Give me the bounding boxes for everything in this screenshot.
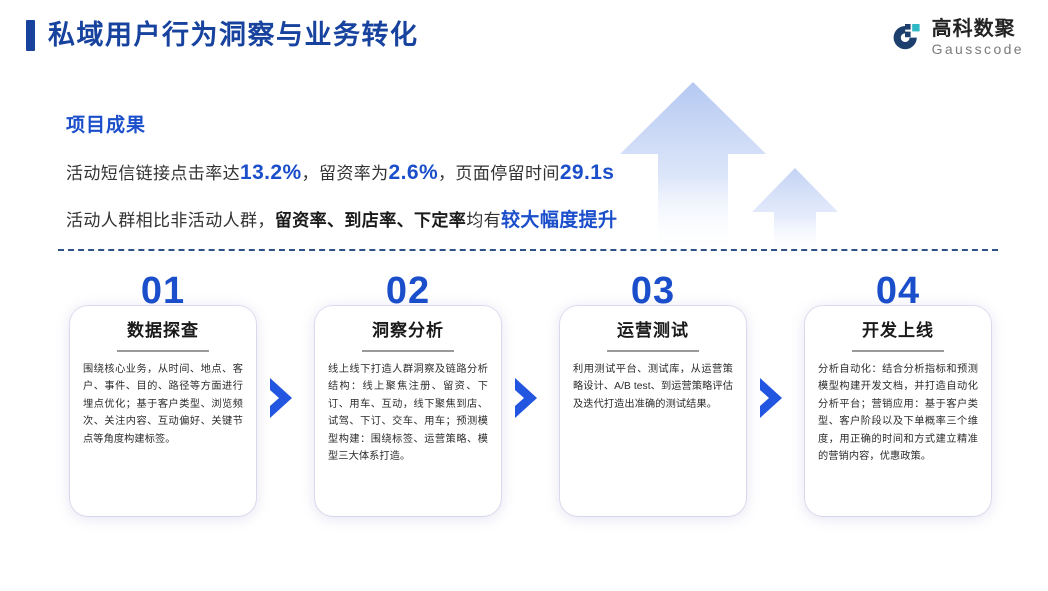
results-line-1: 活动短信链接点击率达13.2%，留资率为2.6%，页面停留时间29.1s — [66, 159, 617, 185]
logo-company-en: Gausscode — [932, 42, 1024, 56]
logo-company-cn: 高科数聚 — [932, 19, 1024, 39]
step-number-3: 03 — [560, 272, 746, 310]
step-rule-2 — [362, 350, 454, 352]
step-title-3: 运营测试 — [617, 322, 689, 341]
step-number-4: 04 — [805, 272, 991, 310]
results-line-2: 活动人群相比非活动人群，留资率、到店率、下定率均有较大幅度提升 — [66, 205, 617, 232]
results-line2-emphasis: 较大幅度提升 — [501, 210, 617, 231]
results-line1-seg1: 活动短信链接点击率达 — [66, 164, 240, 183]
title-accent-bar — [26, 20, 35, 51]
step-card-1[interactable]: 数据探查 围绕核心业务，从时间、地点、客户、事件、目的、路径等方面进行埋点优化；… — [70, 306, 256, 516]
decorative-up-arrow-large — [620, 82, 766, 254]
step-rule-3 — [607, 350, 699, 352]
slide-header: 私域用户行为洞察与业务转化 高科数聚 Gausscode — [0, 0, 1048, 78]
step-rule-1 — [117, 350, 209, 352]
results-heading: 项目成果 — [66, 110, 617, 137]
results-line2-seg1: 活动人群相比非活动人群， — [66, 211, 275, 230]
chevron-right-icon-3 — [758, 376, 784, 420]
chevron-right-icon-2 — [513, 376, 539, 420]
process-step-3: 03 运营测试 利用测试平台、测试库，从运营策略设计、A/B test、到运营策… — [560, 272, 746, 524]
step-body-3: 利用测试平台、测试库，从运营策略设计、A/B test、到运营策略评估及迭代打造… — [573, 361, 733, 414]
chevron-right-icon-1 — [268, 376, 294, 420]
step-title-4: 开发上线 — [862, 322, 934, 341]
step-body-1: 围绕核心业务，从时间、地点、客户、事件、目的、路径等方面进行埋点优化；基于客户类… — [83, 361, 243, 449]
stat-click-rate: 13.2% — [240, 161, 302, 184]
results-line2-metrics: 留资率、到店率、下定率 — [275, 211, 466, 230]
page-title: 私域用户行为洞察与业务转化 — [48, 22, 419, 49]
process-step-1: 01 数据探查 围绕核心业务，从时间、地点、客户、事件、目的、路径等方面进行埋点… — [70, 272, 256, 524]
process-step-2: 02 洞察分析 线上线下打造人群洞察及链路分析结构：线上聚焦注册、留资、下订、用… — [315, 272, 501, 524]
project-results-block: 项目成果 活动短信链接点击率达13.2%，留资率为2.6%，页面停留时间29.1… — [66, 110, 617, 252]
process-step-4: 04 开发上线 分析自动化：结合分析指标和预测模型构建开发文档，并打造自动化分析… — [805, 272, 991, 524]
step-card-2[interactable]: 洞察分析 线上线下打造人群洞察及链路分析结构：线上聚焦注册、留资、下订、用车、互… — [315, 306, 501, 516]
results-line1-seg3: ，页面停留时间 — [438, 164, 560, 183]
stat-lead-rate: 2.6% — [389, 161, 438, 184]
logo-mark-icon — [886, 19, 923, 56]
step-body-2: 线上线下打造人群洞察及链路分析结构：线上聚焦注册、留资、下订、用车、互动，线下聚… — [328, 361, 488, 466]
step-number-1: 01 — [70, 272, 256, 310]
step-card-3[interactable]: 运营测试 利用测试平台、测试库，从运营策略设计、A/B test、到运营策略评估… — [560, 306, 746, 516]
step-title-2: 洞察分析 — [372, 322, 444, 341]
step-number-2: 02 — [315, 272, 501, 310]
step-title-1: 数据探查 — [127, 322, 199, 341]
results-line2-seg2: 均有 — [466, 211, 501, 230]
page-title-row: 私域用户行为洞察与业务转化 — [26, 20, 419, 51]
decorative-up-arrow-small — [752, 168, 838, 256]
step-rule-4 — [852, 350, 944, 352]
results-line1-seg2: ，留资率为 — [302, 164, 389, 183]
logo-text-block: 高科数聚 Gausscode — [932, 19, 1024, 56]
step-card-4[interactable]: 开发上线 分析自动化：结合分析指标和预测模型构建开发文档，并打造自动化分析平台；… — [805, 306, 991, 516]
stat-dwell-time: 29.1s — [560, 161, 615, 184]
section-divider — [58, 249, 998, 251]
step-body-4: 分析自动化：结合分析指标和预测模型构建开发文档，并打造自动化分析平台；营销应用：… — [818, 361, 978, 466]
brand-logo: 高科数聚 Gausscode — [886, 19, 1024, 56]
slide-root: 私域用户行为洞察与业务转化 高科数聚 Gausscode 项目成果 活动短信链接… — [0, 0, 1048, 591]
